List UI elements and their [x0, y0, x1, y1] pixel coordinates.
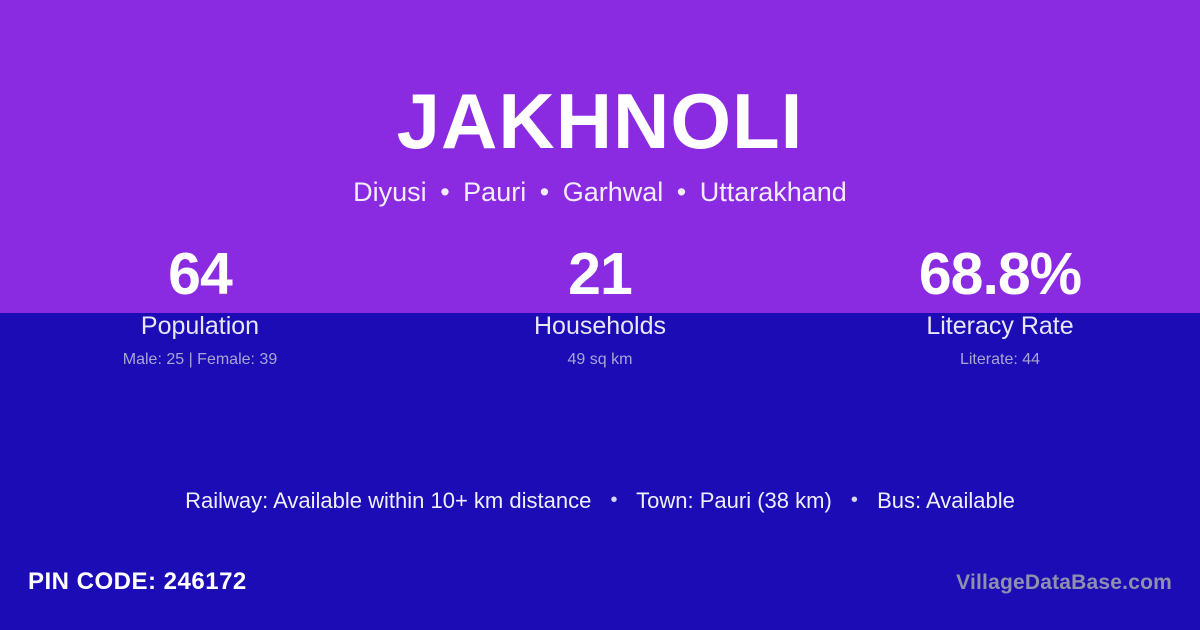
breadcrumb-separator: • [434, 179, 455, 206]
stat-sub-population: Male: 25 | Female: 39 [0, 351, 400, 369]
site-brand: VillageDataBase.com [956, 571, 1172, 595]
breadcrumb: Diyusi • Pauri • Garhwal • Uttarakhand [0, 160, 1200, 206]
stat-value-households: 21 [400, 243, 800, 305]
breadcrumb-item-tehsil: Pauri [463, 177, 526, 207]
breadcrumb-separator: • [671, 179, 692, 206]
stat-households: 21 Households 49 sq km [400, 243, 800, 369]
amenity-railway: Railway: Available within 10+ km distanc… [185, 488, 591, 513]
breadcrumb-item-village: Diyusi [353, 177, 427, 207]
breadcrumb-item-district: Garhwal [563, 177, 664, 207]
stats-row: 64 Population Male: 25 | Female: 39 21 H… [0, 243, 1200, 369]
stat-sub-literacy-rate: Literate: 44 [800, 351, 1200, 369]
card-header: JAKHNOLI Diyusi • Pauri • Garhwal • Utta… [0, 0, 1200, 206]
stat-value-literacy-rate: 68.8% [800, 243, 1200, 305]
stat-sub-households: 49 sq km [400, 351, 800, 369]
amenity-town: Town: Pauri (38 km) [636, 488, 832, 513]
stat-label-literacy-rate: Literacy Rate [800, 312, 1200, 340]
breadcrumb-item-state: Uttarakhand [700, 177, 847, 207]
breadcrumb-separator: • [534, 179, 555, 206]
amenity-bus: Bus: Available [877, 488, 1015, 513]
stat-label-households: Households [400, 312, 800, 340]
amenity-separator: • [597, 485, 630, 515]
page-title: JAKHNOLI [0, 0, 1200, 160]
amenity-separator: • [838, 485, 871, 515]
village-info-card: JAKHNOLI Diyusi • Pauri • Garhwal • Utta… [0, 0, 1200, 630]
stat-population: 64 Population Male: 25 | Female: 39 [0, 243, 400, 369]
stat-value-population: 64 [0, 243, 400, 305]
amenities-line: Railway: Available within 10+ km distanc… [0, 485, 1200, 516]
stat-label-population: Population [0, 312, 400, 340]
stat-literacy-rate: 68.8% Literacy Rate Literate: 44 [800, 243, 1200, 369]
card-footer: PIN CODE: 246172 VillageDataBase.com [0, 554, 1200, 630]
pin-code: PIN CODE: 246172 [28, 568, 247, 596]
